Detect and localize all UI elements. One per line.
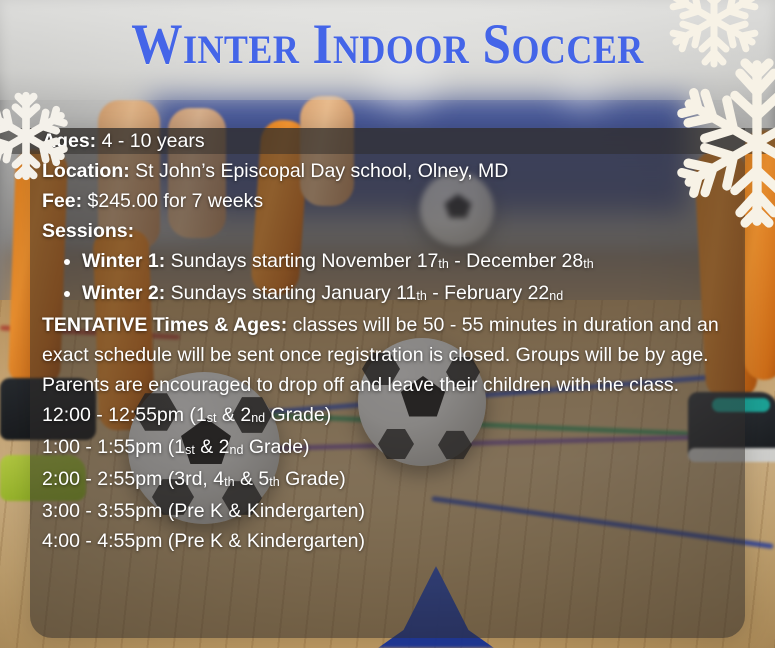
schedule-ordinal-2: th xyxy=(269,475,279,489)
schedule-time: 4:00 - 4:55pm (Pre K & Kindergarten) xyxy=(42,530,365,552)
schedule-row: 4:00 - 4:55pm (Pre K & Kindergarten) xyxy=(42,526,742,556)
session-text-b: - February 22 xyxy=(427,282,549,304)
page-title: Winter Indoor Soccer xyxy=(39,14,737,76)
schedule-mid: & 2 xyxy=(195,436,230,458)
schedule-mid: & 2 xyxy=(217,404,252,426)
session-text-a: Sundays starting November 17 xyxy=(165,250,438,272)
schedule-ordinal-2: nd xyxy=(230,443,244,457)
schedule-ordinal-1: th xyxy=(224,475,234,489)
schedule-row: 2:00 - 2:55pm (3rd, 4th & 5th Grade) xyxy=(42,464,742,496)
session-text-a: Sundays starting January 11 xyxy=(165,282,416,304)
schedule-time: 12:00 - 12:55pm (1 xyxy=(42,404,207,426)
tentative-label: TENTATIVE Times & Ages: xyxy=(42,314,287,336)
schedule-row: 3:00 - 3:55pm (Pre K & Kindergarten) xyxy=(42,496,742,526)
session-ordinal-b: th xyxy=(583,257,593,271)
info-content: Ages: 4 - 10 years Location: St John’s E… xyxy=(42,126,742,556)
fee-value: $245.00 for 7 weeks xyxy=(82,190,263,212)
tentative-paragraph: TENTATIVE Times & Ages: classes will be … xyxy=(42,310,742,370)
schedule-tail: Grade) xyxy=(265,404,331,426)
list-item: Winter 1: Sundays starting November 17th… xyxy=(42,246,742,278)
schedule-row: 12:00 - 12:55pm (1st & 2nd Grade) xyxy=(42,400,742,432)
location-value: St John’s Episcopal Day school, Olney, M… xyxy=(130,160,509,182)
schedule-time: 2:00 - 2:55pm (3rd, 4 xyxy=(42,468,224,490)
bullet-icon xyxy=(64,291,70,297)
session-ordinal-b: nd xyxy=(549,289,563,303)
session-text-b: - December 28 xyxy=(449,250,583,272)
fee-label: Fee: xyxy=(42,190,82,212)
ages-line: Ages: 4 - 10 years xyxy=(42,126,742,156)
schedule-tail: Grade) xyxy=(280,468,346,490)
ages-value: 4 - 10 years xyxy=(96,130,204,152)
parents-paragraph: Parents are encouraged to drop off and l… xyxy=(42,370,742,400)
sessions-list: Winter 1: Sundays starting November 17th… xyxy=(42,246,742,310)
fee-line: Fee: $245.00 for 7 weeks xyxy=(42,186,742,216)
schedule-tail: Grade) xyxy=(243,436,309,458)
session-label: Winter 2: xyxy=(82,282,165,304)
sessions-label: Sessions: xyxy=(42,220,134,242)
schedule-time: 1:00 - 1:55pm (1 xyxy=(42,436,185,458)
poster: Winter Indoor Soccer Ages: 4 - 10 years … xyxy=(0,0,775,648)
sessions-heading: Sessions: xyxy=(42,216,742,246)
session-label: Winter 1: xyxy=(82,250,165,272)
schedule-mid: & 5 xyxy=(235,468,270,490)
schedule-ordinal-2: nd xyxy=(251,411,265,425)
list-item: Winter 2: Sundays starting January 11th … xyxy=(42,278,742,310)
location-label: Location: xyxy=(42,160,130,182)
session-ordinal-a: th xyxy=(438,257,448,271)
schedule-row: 1:00 - 1:55pm (1st & 2nd Grade) xyxy=(42,432,742,464)
schedule-ordinal-1: st xyxy=(207,411,217,425)
ages-label: Ages: xyxy=(42,130,96,152)
session-ordinal-a: th xyxy=(416,289,426,303)
bullet-icon xyxy=(64,259,70,265)
schedule-ordinal-1: st xyxy=(185,443,195,457)
location-line: Location: St John’s Episcopal Day school… xyxy=(42,156,742,186)
schedule-time: 3:00 - 3:55pm (Pre K & Kindergarten) xyxy=(42,500,365,522)
